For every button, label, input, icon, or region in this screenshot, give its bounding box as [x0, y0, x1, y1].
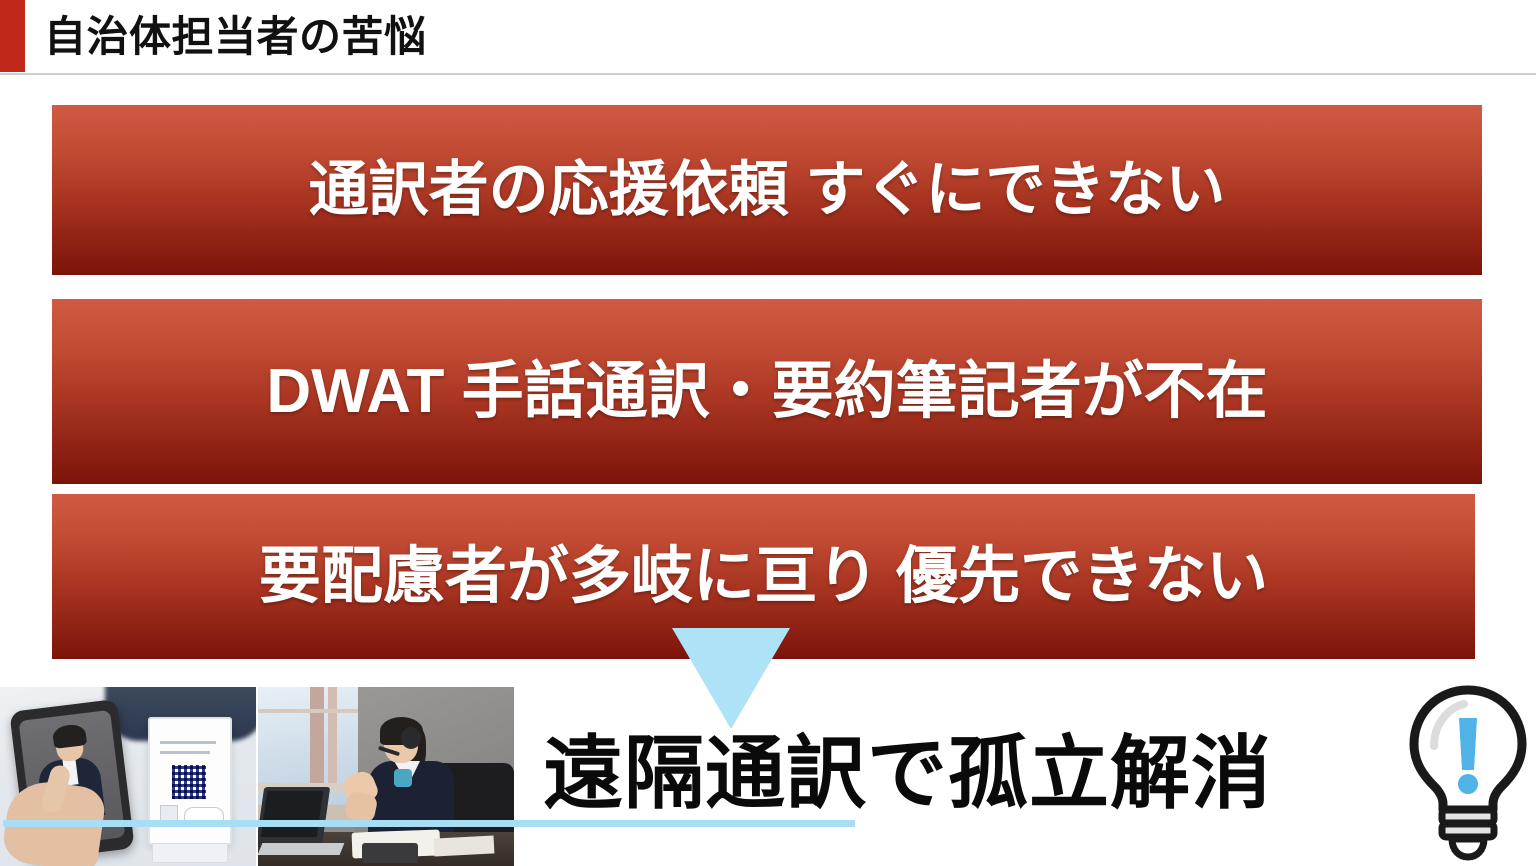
photo-1-qr-code [172, 765, 206, 799]
problem-banner-1-label: 通訳者の応援依頼 すぐにできない [309, 160, 1226, 220]
down-arrow-icon [672, 628, 790, 729]
problem-banner-3-label: 要配慮者が多岐に亘り 優先できない [259, 546, 1268, 608]
problem-banner-1: 通訳者の応援依頼 すぐにできない [52, 105, 1482, 275]
photo-2-laptop-screen [261, 791, 323, 837]
header-accent-bar [0, 0, 25, 72]
photo-2-headset [401, 727, 421, 749]
photo-2-building [310, 687, 324, 783]
conclusion-underline [3, 820, 855, 827]
problem-banner-2: DWAT 手話通訳・要約筆記者が不在 [52, 299, 1482, 484]
header-divider [0, 73, 1536, 75]
conclusion-text: 遠隔通訳で孤立解消 [543, 718, 1272, 830]
photo-1-sign-text-line [160, 751, 210, 754]
slide-root: 自治体担当者の苦悩 通訳者の応援依頼 すぐにできない DWAT 手話通訳・要約筆… [0, 0, 1536, 866]
photo-interpreter-with-headset [258, 687, 514, 866]
page-title: 自治体担当者の苦悩 [44, 6, 427, 68]
photo-remote-interpretation-smartphone [0, 687, 256, 866]
problem-banner-2-label: DWAT 手話通訳・要約筆記者が不在 [266, 361, 1267, 423]
photo-2-window-frame [258, 709, 358, 713]
photo-2-building [328, 687, 337, 783]
photo-2-operator-scarf [394, 769, 412, 787]
photo-2-open-book [434, 835, 495, 856]
slide-header: 自治体担当者の苦悩 [0, 0, 1536, 76]
photo-1-sign-text-line [160, 741, 216, 744]
lightbulb-icon [1404, 684, 1532, 862]
photo-1-sign-stand [152, 843, 228, 863]
photo-2-desk-phone [362, 843, 418, 863]
photo-2-laptop-keyboard [258, 843, 344, 855]
